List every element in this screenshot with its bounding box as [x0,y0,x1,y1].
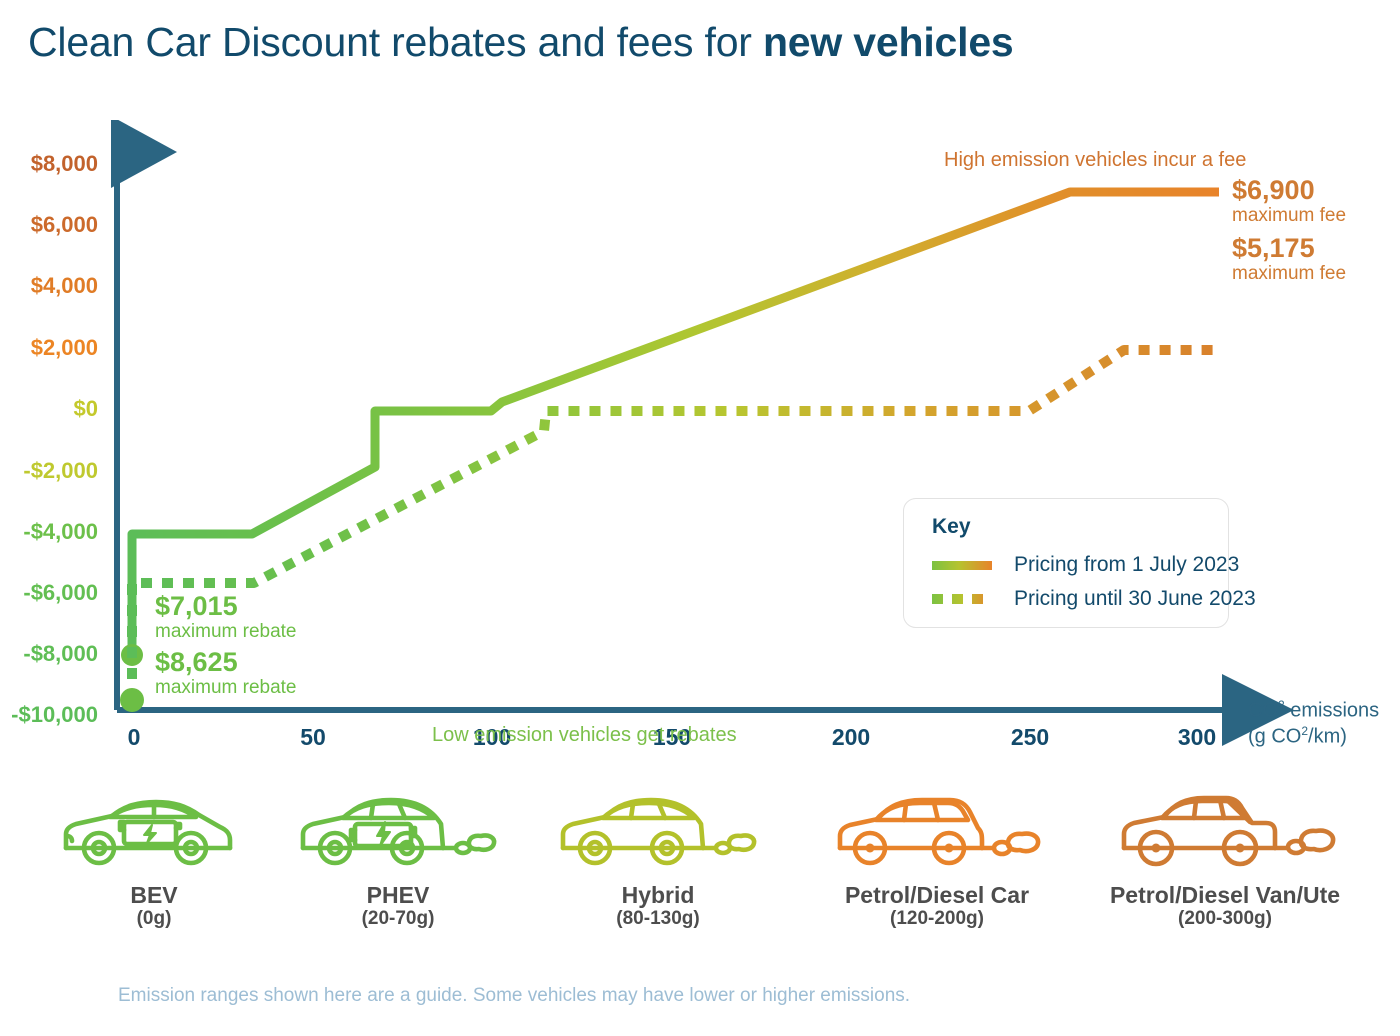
chart-legend: Key Pricing from 1 July 2023 Pricing unt… [903,498,1229,628]
petrol-diesel-car-icon [812,790,1062,870]
low-emission-annotation: Low emission vehicles get rebates [432,724,737,747]
callout-max-rebate-new: $7,015 maximum rebate [155,592,297,644]
callout-max-fee-old-label: maximum fee [1232,262,1346,286]
callout-max-fee-new-label: maximum fee [1232,204,1346,228]
y-tick-neg4000: -$4,000 [23,519,98,545]
x-axis-caption-line1: CO2 emissions [1248,698,1379,724]
vehicle-range-petrol-diesel-van-ute: (200-300g) [1090,908,1360,931]
legend-label-from-july-2023: Pricing from 1 July 2023 [1014,553,1239,577]
page-title: Clean Car Discount rebates and fees for … [28,20,1014,65]
vehicle-item-bev: BEV (0g) [38,790,270,931]
vehicle-name-phev: PHEV [282,882,514,908]
x-tick-0: 0 [128,724,141,751]
x-tick-50: 50 [300,724,326,751]
vehicle-range-bev: (0g) [38,908,270,931]
vehicle-range-petrol-diesel-car: (120-200g) [812,908,1062,931]
y-tick-neg6000: -$6,000 [23,580,98,606]
vehicle-item-phev: PHEV (20-70g) [282,790,514,931]
x-axis-caption: CO2 emissions (g CO2/km) [1248,698,1379,749]
high-emission-annotation: High emission vehicles incur a fee [944,149,1246,172]
page-title-emphasis: new vehicles [763,19,1014,65]
co2-text: CO [1248,700,1278,722]
unit-suffix: /km) [1308,725,1347,747]
x-tick-200: 200 [832,724,870,751]
vehicle-range-phev: (20-70g) [282,908,514,931]
y-tick-4000: $4,000 [31,273,98,299]
vehicle-item-hybrid: Hybrid (80-130g) [542,790,774,931]
x-axis-caption-line2: (g CO2/km) [1248,724,1379,750]
vehicle-name-hybrid: Hybrid [542,882,774,908]
vehicle-name-petrol-diesel-van-ute: Petrol/Diesel Van/Ute [1090,882,1360,908]
vehicle-range-hybrid: (80-130g) [542,908,774,931]
legend-label-until-june-2023: Pricing until 30 June 2023 [1014,587,1256,611]
petrol-diesel-van-ute-icon [1090,790,1360,870]
emissions-text: emissions [1285,700,1379,722]
co2-superscript: 2 [1278,698,1285,712]
x-tick-300: 300 [1178,724,1216,751]
legend-item-until-june-2023[interactable]: Pricing until 30 June 2023 [932,582,1228,616]
series-start-dot-until-june-2023 [120,688,144,712]
vehicle-item-petrol-diesel-van-ute: Petrol/Diesel Van/Ute (200-300g) [1090,790,1360,931]
callout-max-fee-old-value: $5,175 [1232,234,1346,262]
page-title-lead: Clean Car Discount rebates and fees for [28,19,763,65]
legend-swatch-dotted-icon [932,594,992,604]
infographic-page: Clean Car Discount rebates and fees for … [0,0,1400,1036]
callout-max-fee-old: $5,175 maximum fee [1232,234,1346,286]
bev-car-icon [38,790,270,870]
callout-max-rebate-old-label: maximum rebate [155,676,297,700]
legend-title: Key [932,515,1228,539]
y-tick-neg8000: -$8,000 [23,641,98,667]
unit-prefix: (g CO [1248,725,1301,747]
callout-max-rebate-old: $8,625 maximum rebate [155,648,297,700]
legend-item-from-july-2023[interactable]: Pricing from 1 July 2023 [932,548,1228,582]
vehicle-name-bev: BEV [38,882,270,908]
vehicle-legend-row: BEV (0g) [0,790,1400,950]
callout-max-rebate-new-label: maximum rebate [155,620,297,644]
y-tick-neg2000: -$2,000 [23,458,98,484]
y-tick-8000: $8,000 [31,151,98,177]
phev-car-icon [282,790,514,870]
callout-max-fee-new-value: $6,900 [1232,176,1346,204]
callout-max-fee-new: $6,900 maximum fee [1232,176,1346,228]
chart-area: $8,000 $6,000 $4,000 $2,000 $0 -$2,000 -… [0,120,1400,780]
y-tick-6000: $6,000 [31,212,98,238]
y-tick-neg10000: -$10,000 [11,702,98,728]
footnote: Emission ranges shown here are a guide. … [118,985,910,1007]
x-tick-250: 250 [1011,724,1049,751]
y-tick-2000: $2,000 [31,335,98,361]
legend-swatch-solid-icon [932,561,992,570]
vehicle-item-petrol-diesel-car: Petrol/Diesel Car (120-200g) [812,790,1062,931]
callout-max-rebate-old-value: $8,625 [155,648,297,676]
y-tick-0: $0 [74,396,98,422]
hybrid-car-icon [542,790,774,870]
callout-max-rebate-new-value: $7,015 [155,592,297,620]
vehicle-name-petrol-diesel-car: Petrol/Diesel Car [812,882,1062,908]
